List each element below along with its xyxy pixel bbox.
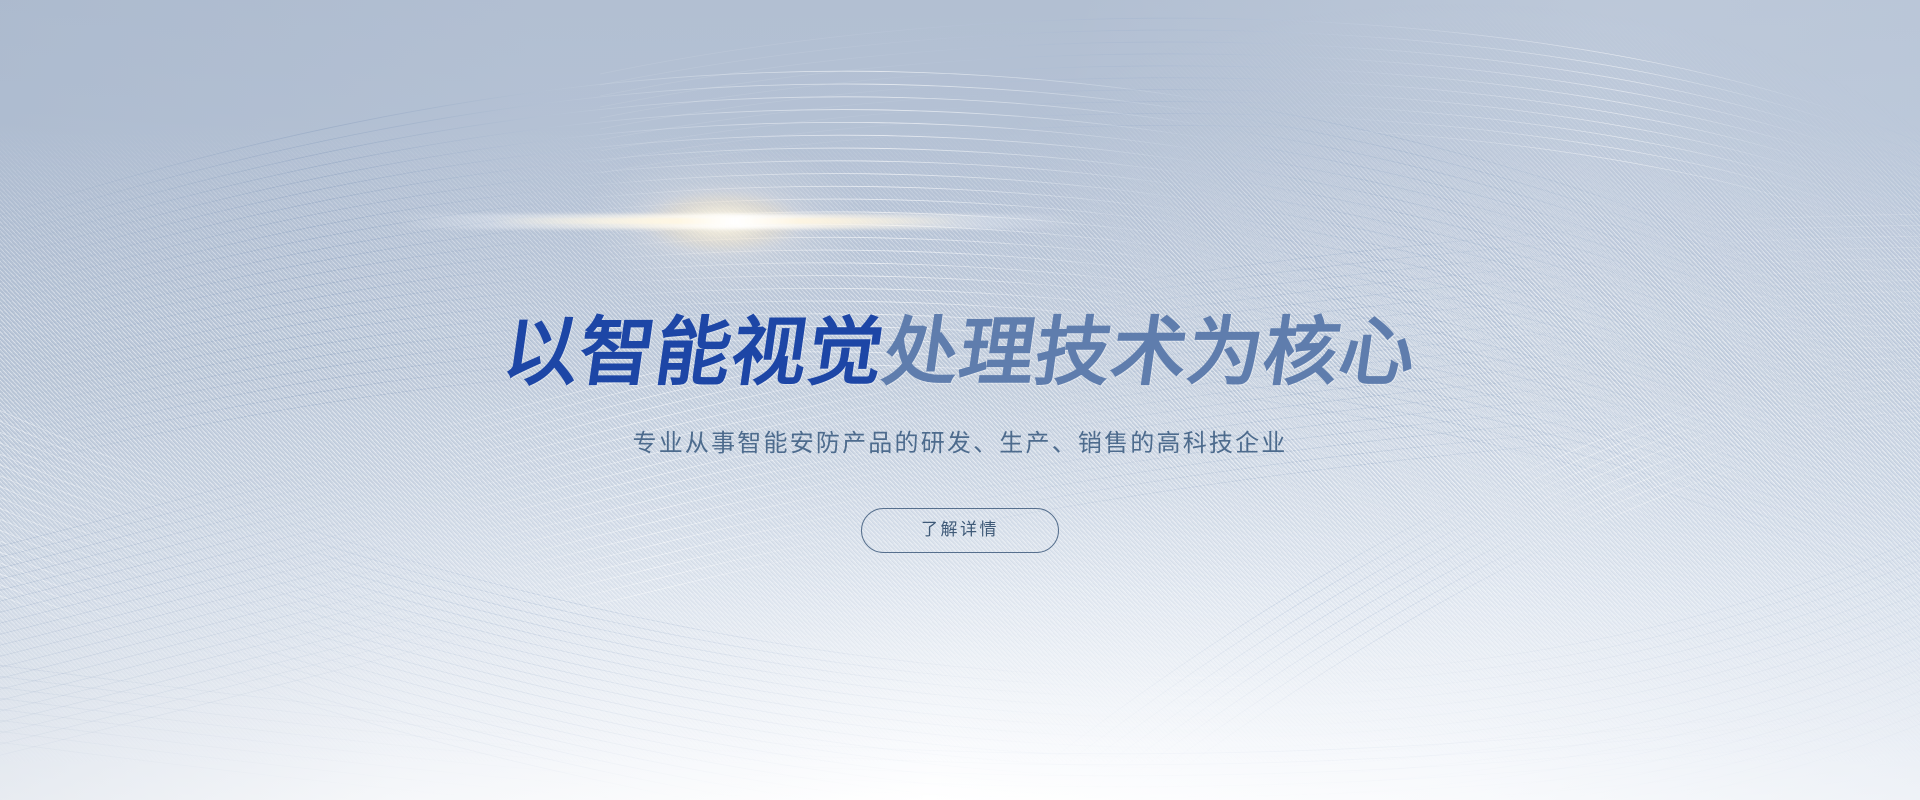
cta-container: 了解详情 (0, 508, 1920, 553)
headline-segment-secondary: 处理技术为核心 (878, 308, 1422, 396)
page-subtitle: 专业从事智能安防产品的研发、生产、销售的高科技企业 (0, 426, 1920, 460)
headline-segment-primary: 以智能视觉 (498, 308, 890, 396)
learn-more-button[interactable]: 了解详情 (861, 508, 1059, 553)
hero-banner: 以智能视觉处理技术为核心 专业从事智能安防产品的研发、生产、销售的高科技企业 了… (0, 0, 1920, 800)
hero-content: 以智能视觉处理技术为核心 专业从事智能安防产品的研发、生产、销售的高科技企业 了… (0, 0, 1920, 800)
page-title: 以智能视觉处理技术为核心 (0, 308, 1920, 396)
